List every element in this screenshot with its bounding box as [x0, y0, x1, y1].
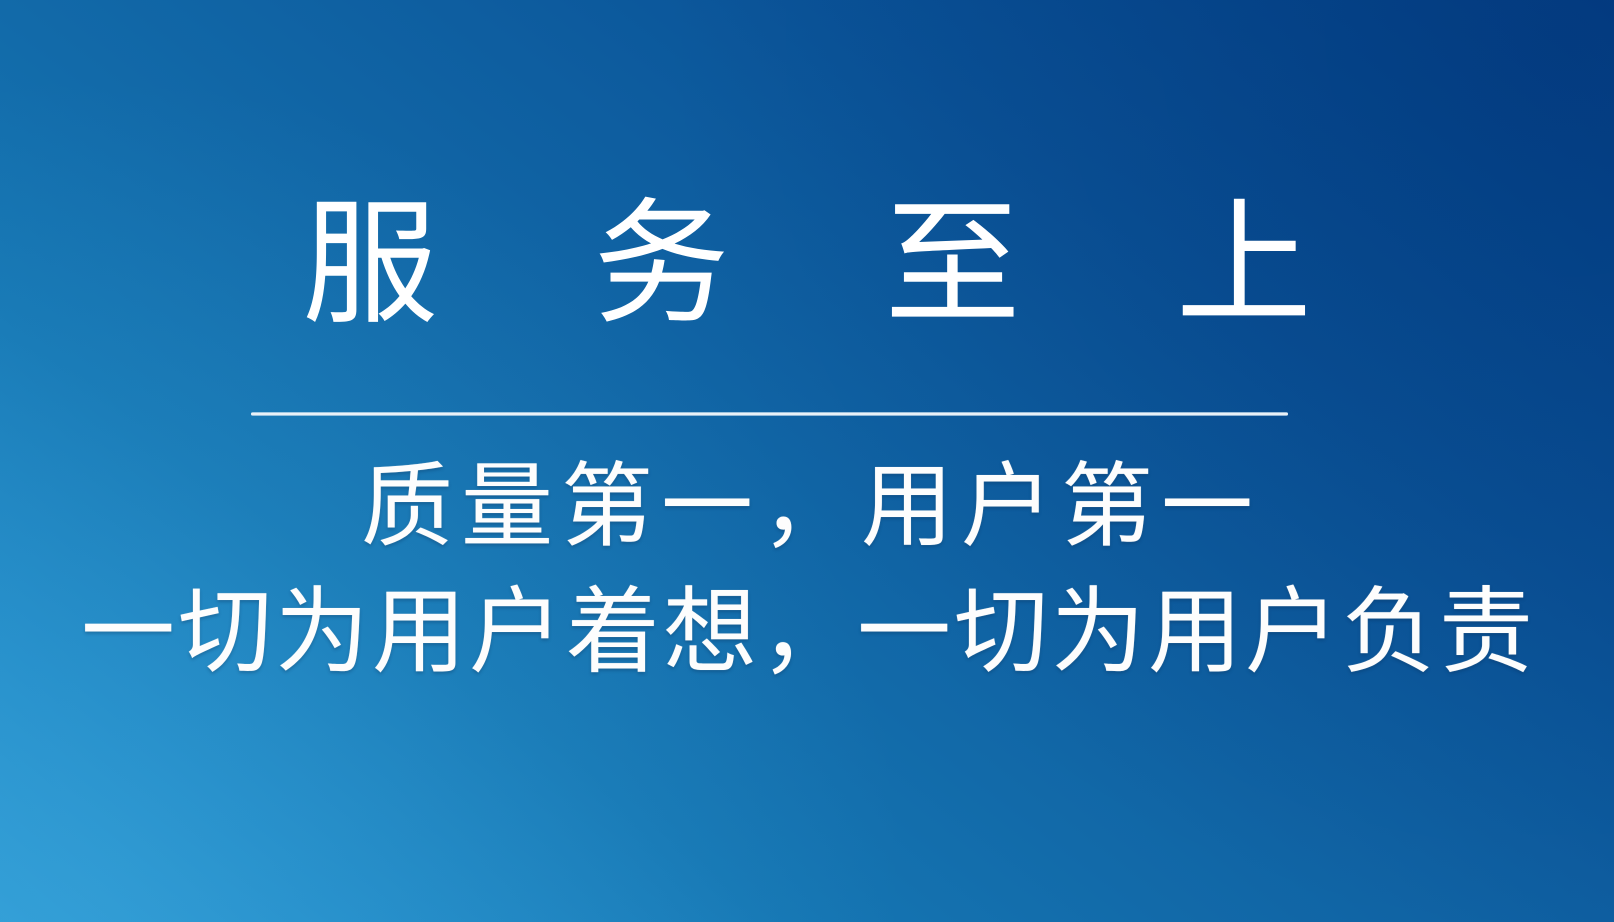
poster-content: 服 务 至 上 质量第一，用户第一 一切为用户着想，一切为用户负责 [0, 0, 1614, 922]
page-title: 服 务 至 上 [0, 185, 1614, 345]
title-divider [251, 412, 1288, 416]
subtitle-line-2: 一切为用户着想，一切为用户负责 [0, 580, 1614, 686]
poster-background: 服 务 至 上 质量第一，用户第一 一切为用户着想，一切为用户负责 [0, 0, 1614, 922]
subtitle-line-1: 质量第一，用户第一 [0, 455, 1614, 559]
